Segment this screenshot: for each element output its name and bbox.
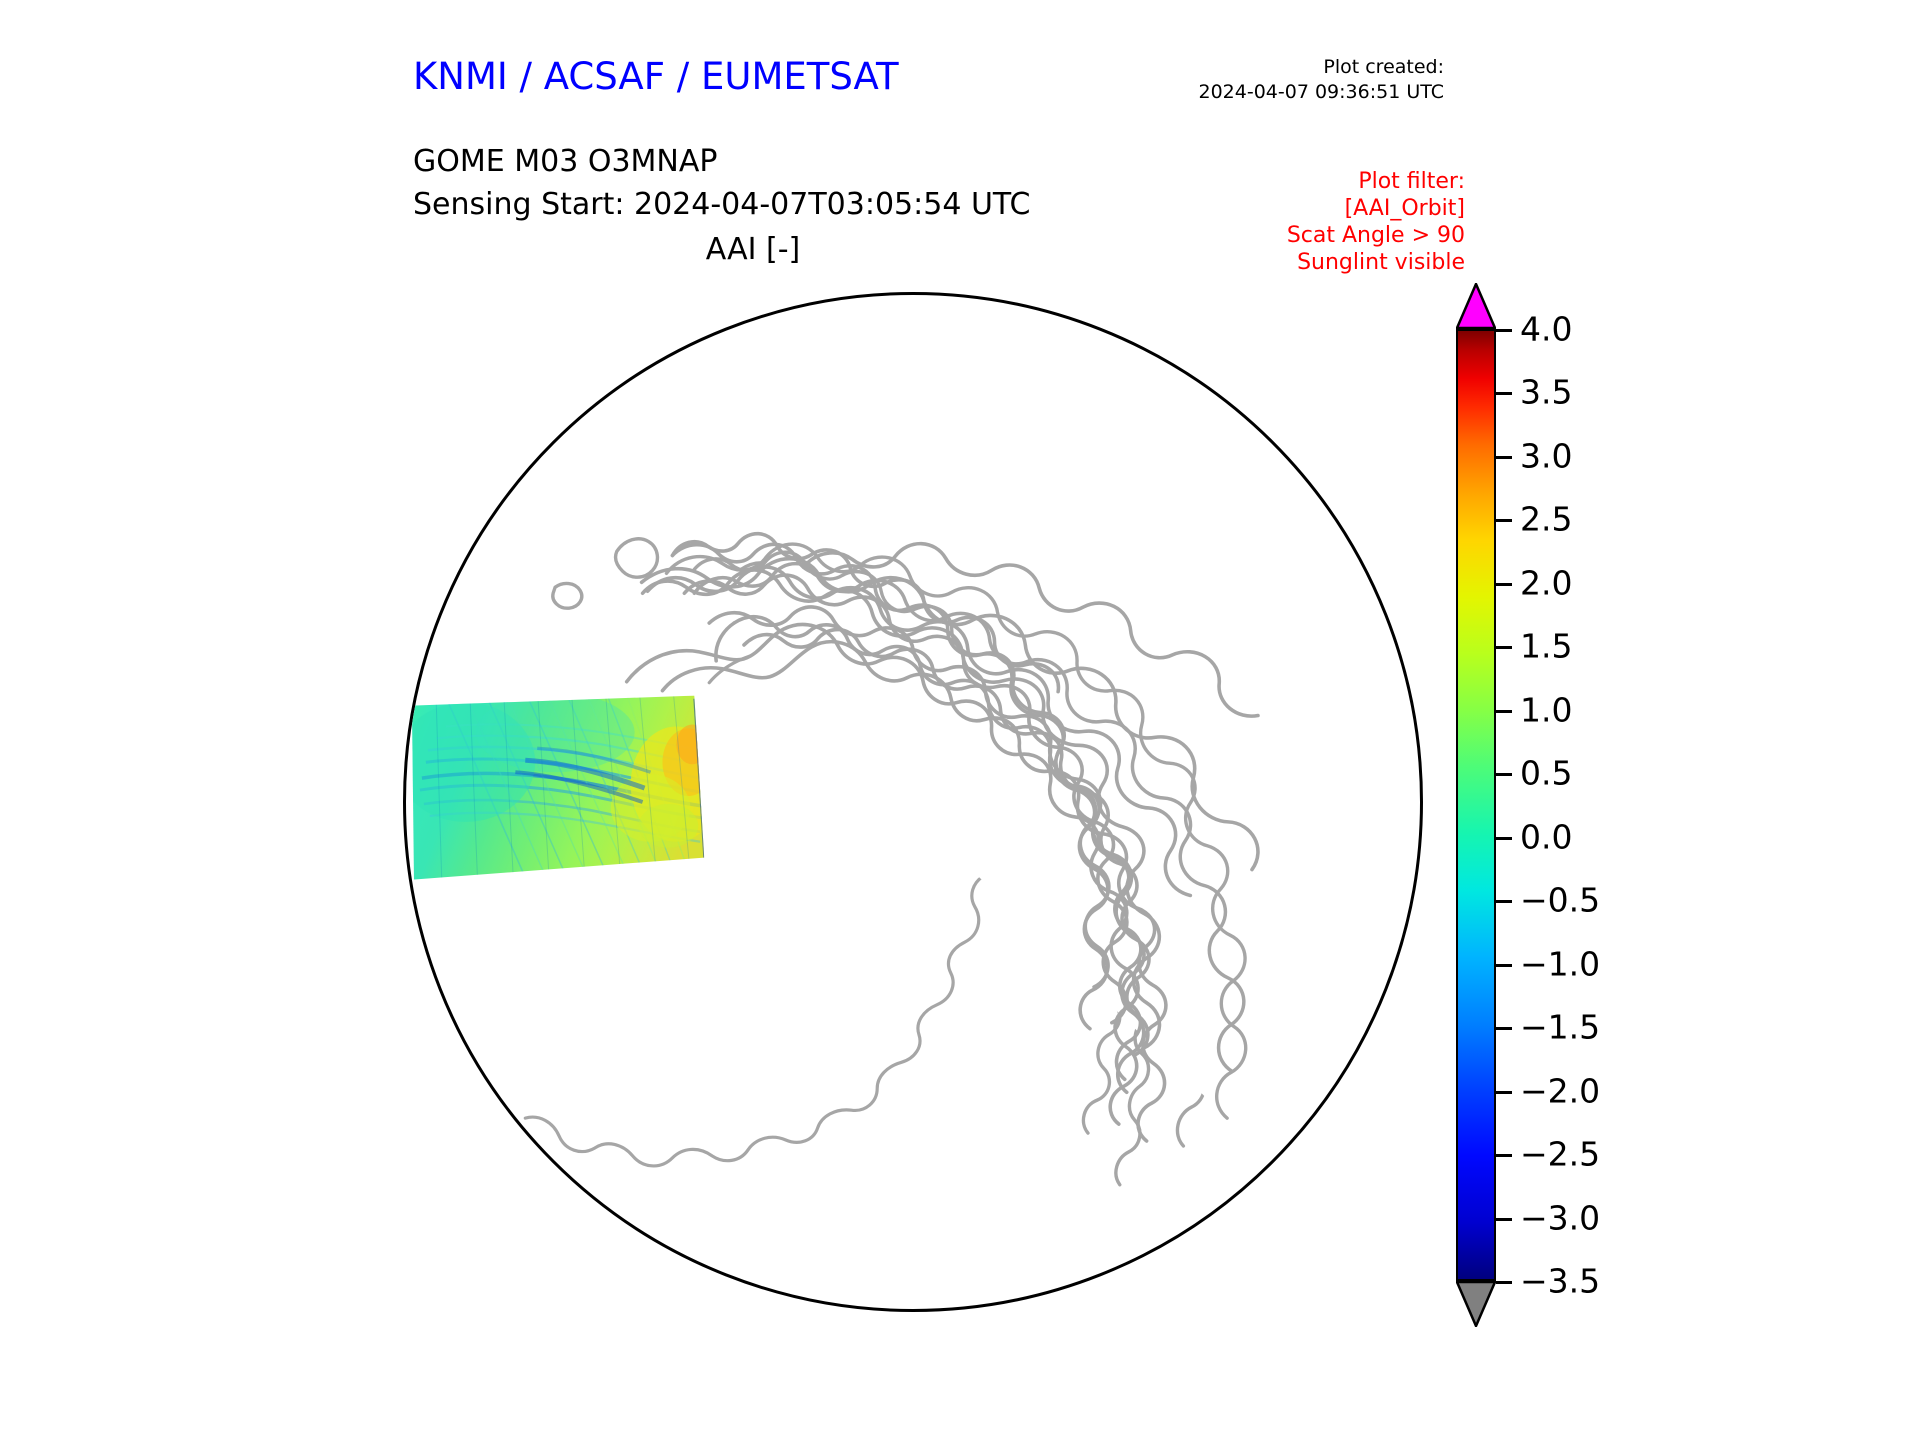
colorbar-tick — [1496, 1091, 1512, 1094]
instrument-product-line: GOME M03 O3MNAP — [413, 140, 1030, 183]
polar-map-area — [393, 282, 1443, 1332]
colorbar-tick-label: 1.0 — [1520, 693, 1572, 726]
colorbar-tick-label: −1.5 — [1520, 1011, 1600, 1044]
coastline-top — [406, 295, 1420, 1309]
colorbar-over-arrow — [1456, 283, 1496, 329]
colorbar-tick-label: 4.0 — [1520, 313, 1572, 346]
colorbar-under-arrow — [1456, 1281, 1496, 1327]
plot-filter-title: Plot filter: — [1287, 168, 1465, 195]
plot-filter-line-3: Sunglint visible — [1287, 249, 1465, 276]
colorbar-tick — [1496, 646, 1512, 649]
colorbar-tick-label: −3.5 — [1520, 1265, 1600, 1298]
colorbar-tick-label: 0.0 — [1520, 820, 1572, 853]
colorbar-tick — [1496, 1154, 1512, 1157]
polar-projection-disc — [403, 292, 1423, 1312]
colorbar-tick-label: −0.5 — [1520, 884, 1600, 917]
colorbar-tick — [1496, 964, 1512, 967]
colorbar-tick-label: 3.0 — [1520, 439, 1572, 472]
organisation-title: KNMI / ACSAF / EUMETSAT — [413, 55, 899, 98]
product-info-block: GOME M03 O3MNAP Sensing Start: 2024-04-0… — [413, 140, 1030, 226]
colorbar-tick — [1496, 773, 1512, 776]
colorbar-tick — [1496, 456, 1512, 459]
plot-filter-line-2: Scat Angle > 90 — [1287, 222, 1465, 249]
colorbar-tick — [1496, 519, 1512, 522]
colorbar-tick-label: −1.0 — [1520, 947, 1600, 980]
colorbar-tick-label: 1.5 — [1520, 630, 1572, 663]
colorbar-tick — [1496, 392, 1512, 395]
colorbar-tick — [1496, 837, 1512, 840]
colorbar-gradient — [1456, 329, 1496, 1281]
plot-filter-block: Plot filter: [AAI_Orbit] Scat Angle > 90… — [1287, 168, 1465, 276]
colorbar-tick — [1496, 900, 1512, 903]
sensing-start-line: Sensing Start: 2024-04-07T03:05:54 UTC — [413, 183, 1030, 226]
plot-filter-line-1: [AAI_Orbit] — [1287, 195, 1465, 222]
plot-created-value: 2024-04-07 09:36:51 UTC — [1199, 80, 1445, 105]
plot-created-label: Plot created: — [1199, 55, 1445, 80]
colorbar-tick — [1496, 1281, 1512, 1284]
colorbar-tick-label: 2.0 — [1520, 566, 1572, 599]
colorbar-tick — [1496, 583, 1512, 586]
colorbar-tick-label: −3.0 — [1520, 1201, 1600, 1234]
colorbar-tick-label: 0.5 — [1520, 757, 1572, 790]
colorbar-tick-label: −2.0 — [1520, 1074, 1600, 1107]
colorbar-tick-label: −2.5 — [1520, 1138, 1600, 1171]
colorbar: 4.03.53.02.52.01.51.00.50.0−0.5−1.0−1.5−… — [1448, 282, 1778, 1342]
colorbar-tick — [1496, 710, 1512, 713]
quantity-title: AAI [-] — [413, 232, 1093, 267]
colorbar-tick — [1496, 329, 1512, 332]
colorbar-tick — [1496, 1218, 1512, 1221]
colorbar-tick-label: 3.5 — [1520, 376, 1572, 409]
colorbar-tick-label: 2.5 — [1520, 503, 1572, 536]
plot-created-block: Plot created: 2024-04-07 09:36:51 UTC — [1199, 55, 1445, 105]
colorbar-tick — [1496, 1027, 1512, 1030]
